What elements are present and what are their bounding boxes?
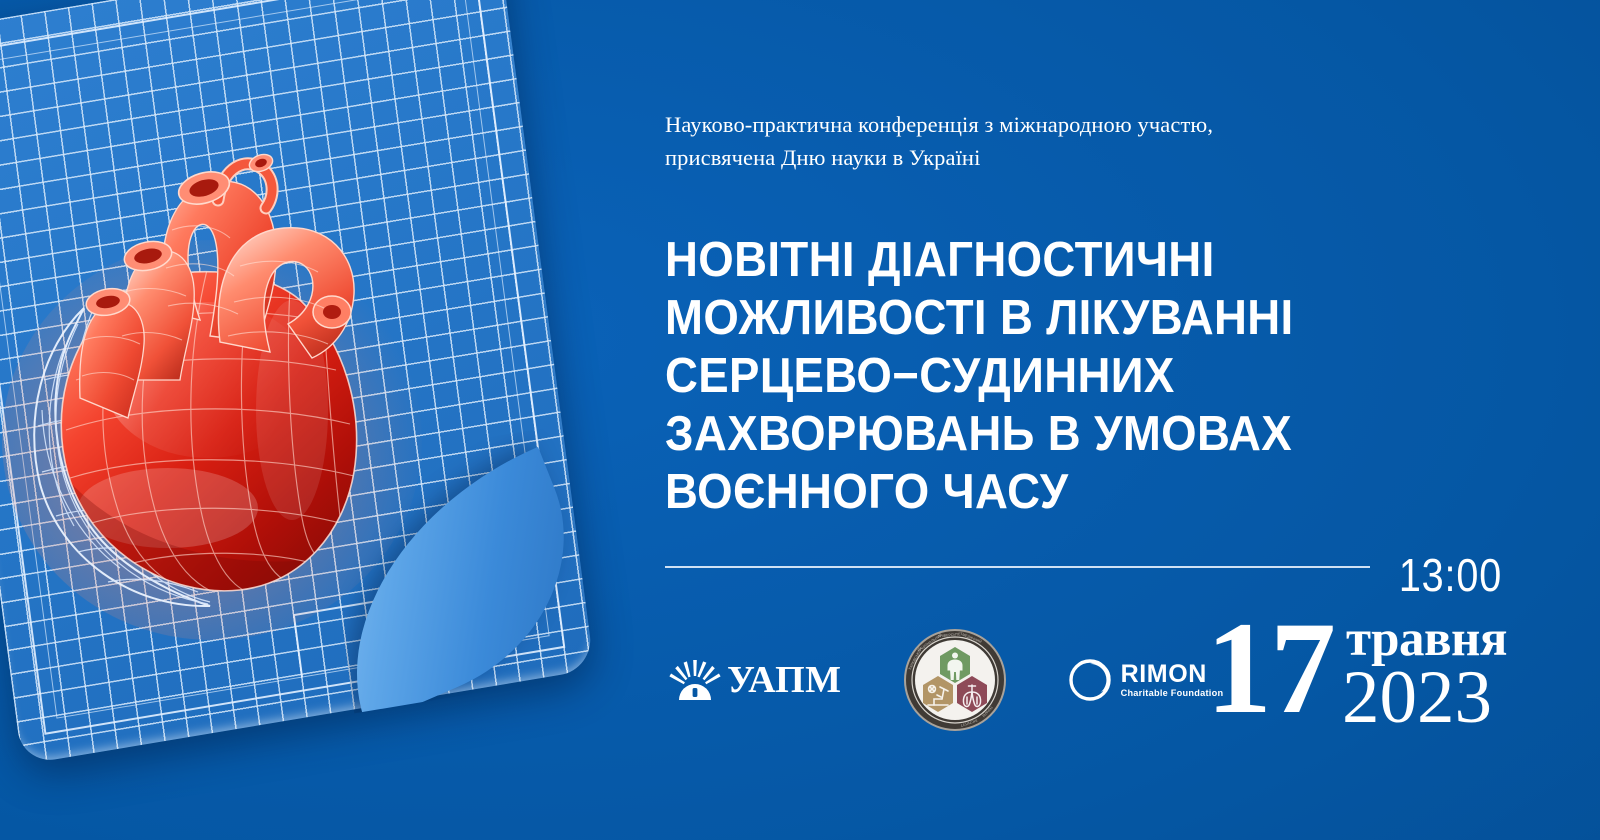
title-line-1: НОВІТНІ ДІАГНОСТИЧНІ — [665, 231, 1344, 289]
conference-kicker: Науково-практична конференція з міжнарод… — [665, 108, 1385, 174]
poster-content: Науково-практична конференція з міжнарод… — [665, 0, 1545, 840]
kicker-line-1: Науково-практична конференція з міжнарод… — [665, 108, 1385, 141]
uapm-label: УАПМ — [727, 658, 842, 702]
logo-uapm[interactable]: УАПМ — [665, 658, 842, 702]
logo-university-emblem[interactable]: ХАРКІВСЬКИЙ НАЦІОНАЛЬНИЙ УНІВЕРСИТЕТ МЕД… — [904, 629, 1006, 731]
date-month-year: травня 2023 — [1346, 614, 1507, 734]
logo-row: УАПМ ХАРКІВСЬКИЙ НАЦІОНАЛЬНИЙ УНІВЕРСИТЕ… — [665, 624, 1223, 736]
horizontal-divider — [665, 566, 1370, 568]
circular-university-emblem-icon: ХАРКІВСЬКИЙ НАЦІОНАЛЬНИЙ УНІВЕРСИТЕТ МЕД… — [904, 629, 1006, 731]
title-line-5: ВОЄННОГО ЧАСУ — [665, 463, 1344, 521]
event-time: 13:00 — [1399, 552, 1502, 598]
title-line-4: ЗАХВОРЮВАНЬ В УМОВАХ — [665, 405, 1344, 463]
conference-poster: Науково-практична конференція з міжнарод… — [0, 0, 1600, 840]
heart-icon — [0, 80, 492, 640]
event-date: 17 травня 2023 — [1206, 604, 1507, 734]
date-day: 17 — [1206, 610, 1334, 726]
kicker-line-2: присвячена Дню науки в Україні — [665, 141, 1385, 174]
title-line-2: МОЖЛИВОСТІ В ЛІКУВАННІ — [665, 289, 1344, 347]
date-year: 2023 — [1342, 662, 1507, 734]
logo-rimon[interactable]: RIMON Charitable Foundation — [1068, 658, 1224, 702]
page-title: НОВІТНІ ДІАГНОСТИЧНІ МОЖЛИВОСТІ В ЛІКУВА… — [665, 231, 1344, 521]
rimon-ring-icon — [1068, 658, 1112, 702]
heart-blueprint-illustration — [0, 0, 660, 840]
title-line-3: СЕРЦЕВО−СУДИННИХ — [665, 347, 1344, 405]
sunburst-icon — [665, 658, 725, 702]
